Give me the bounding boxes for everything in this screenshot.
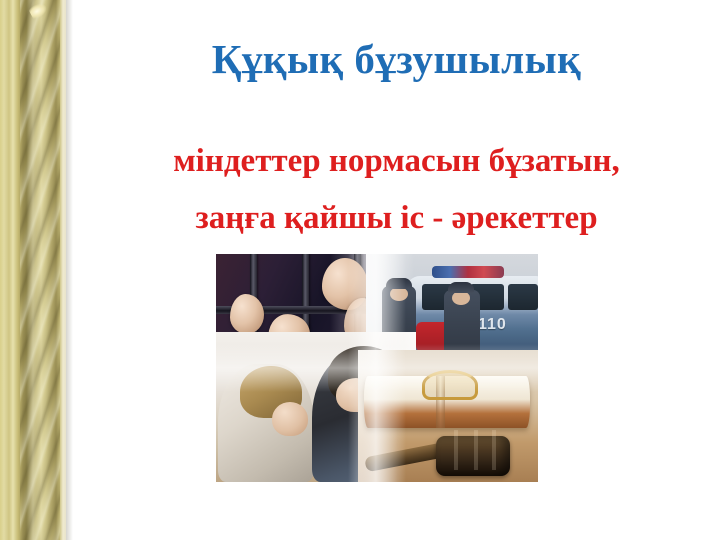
gavel-band	[454, 430, 458, 470]
slide-image-collage: 110	[216, 254, 538, 482]
subtitle-line-1: міндеттер нормасын бұзатын,	[73, 133, 720, 190]
car-window	[508, 284, 538, 310]
collage-horizontal-blend	[216, 344, 538, 392]
border-highlight-sheen	[26, 0, 40, 540]
officer-head	[452, 291, 470, 305]
border-drop-shadow	[66, 0, 73, 540]
covering-hand	[272, 402, 308, 436]
patrol-car-number: 110	[478, 316, 507, 334]
slide-subtitle: міндеттер нормасын бұзатын, заңға қайшы …	[73, 133, 720, 247]
slide-left-border-decoration	[0, 0, 66, 540]
gavel-band	[474, 430, 478, 470]
gripping-hand	[230, 294, 264, 334]
police-lightbar	[432, 266, 504, 278]
gavel-band	[492, 430, 496, 470]
presentation-slide: Құқық бұзушылық міндеттер нормасын бұзат…	[0, 0, 720, 540]
gavel-head	[436, 436, 510, 476]
subtitle-line-2: заңға қайшы іс - әрекеттер	[73, 190, 720, 247]
police-cap	[448, 282, 474, 293]
slide-title: Құқық бұзушылық	[73, 36, 720, 82]
